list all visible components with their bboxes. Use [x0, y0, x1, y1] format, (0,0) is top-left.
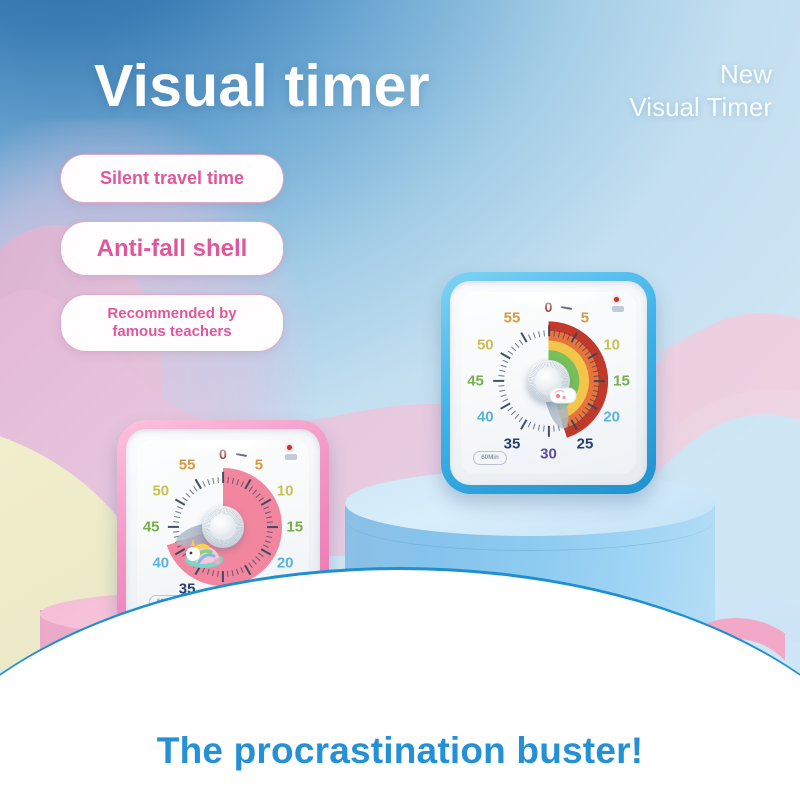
timer-screen-glare [137, 440, 309, 538]
timer-tick [553, 425, 555, 431]
product-blue-visual-timer[interactable]: 051015202530354045505560Min [441, 272, 656, 494]
timer-number-20: 20 [277, 554, 294, 571]
timer-number-30: 30 [540, 445, 557, 462]
timer-number-40: 40 [152, 554, 169, 571]
feature-pill-label-line-1: Recommended by [107, 305, 236, 323]
feature-pill-silent-travel-time[interactable]: Silent travel time [60, 154, 284, 203]
timer-number-40: 40 [477, 409, 494, 426]
feature-pill-anti-fall-shell[interactable]: Anti-fall shell [60, 221, 284, 276]
feature-pill-list: Silent travel time Anti-fall shell Recom… [60, 154, 284, 352]
footer-tagline: The procrastination buster! [0, 730, 800, 772]
page-title: Visual timer [94, 52, 430, 120]
timer-number-20: 20 [603, 409, 620, 426]
product-ad-canvas: Visual timer New Visual Timer Silent tra… [0, 0, 800, 800]
timer-screen-glare [461, 292, 636, 392]
eyebrow-line-1: New [629, 58, 772, 91]
timer-tick [543, 425, 545, 431]
timer-tick [547, 426, 549, 437]
feature-pill-label-line-2: famous teachers [107, 323, 236, 341]
timer-number-25: 25 [577, 436, 594, 453]
eyebrow-line-2: Visual Timer [629, 91, 772, 124]
timer-face: 051015202530354045505560Min [461, 292, 636, 474]
feature-pill-label: Anti-fall shell [97, 235, 248, 263]
feature-pill-recommended-by-teachers[interactable]: Recommended by famous teachers [60, 294, 284, 352]
timer-duration-badge: 60Min [473, 451, 507, 465]
timer-tick [222, 571, 224, 582]
timer-number-35: 35 [504, 436, 521, 453]
eyebrow-label: New Visual Timer [629, 58, 772, 123]
feature-pill-label: Silent travel time [100, 168, 244, 189]
